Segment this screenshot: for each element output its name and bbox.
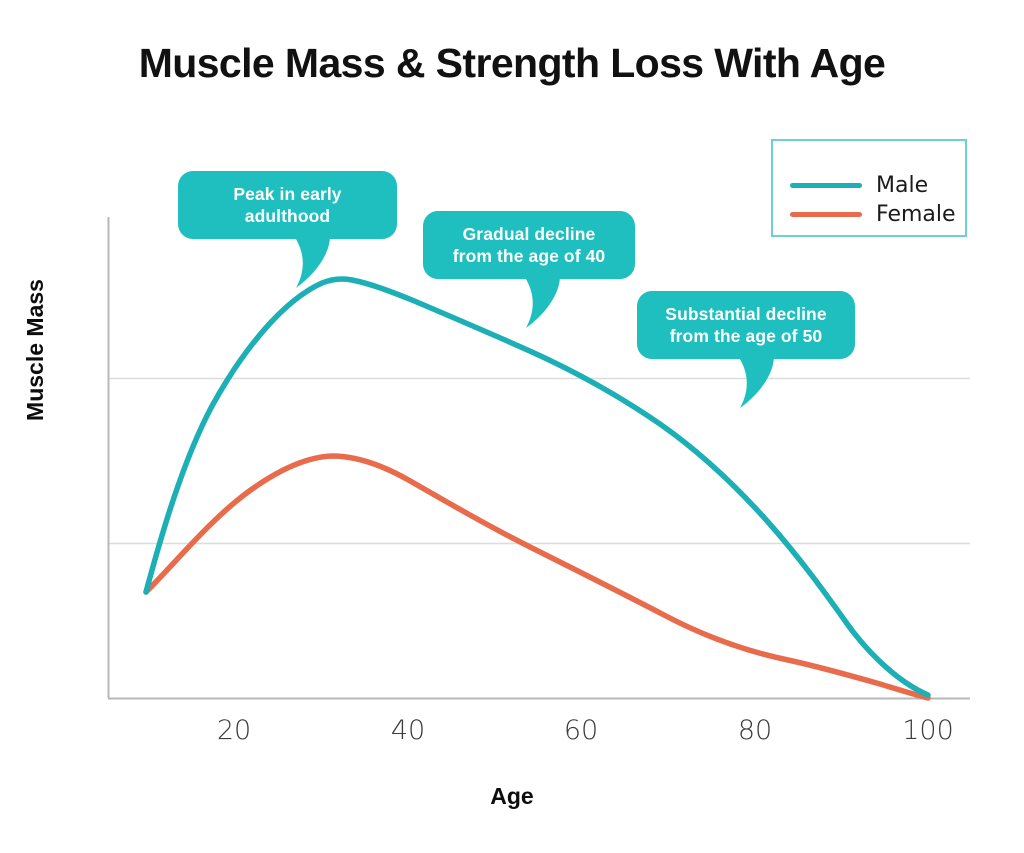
plot-area — [0, 0, 1024, 853]
x-axis-title: Age — [0, 783, 1024, 810]
callout-tail-3 — [738, 356, 774, 408]
legend-swatch-female — [790, 212, 862, 217]
chart-figure: Muscle Mass & Strength Loss With Age Mus… — [0, 0, 1024, 853]
callout-peak-early-adulthood: Peak in early adulthood — [178, 171, 397, 239]
x-tick-label-20: 20 — [194, 715, 274, 746]
legend-item-male[interactable]: Male — [773, 170, 969, 200]
callout-tail-2 — [524, 276, 560, 328]
x-tick-label-100: 100 — [888, 715, 968, 746]
x-tick-label-60: 60 — [541, 715, 621, 746]
callout-substantial-decline: Substantial decline from the age of 50 — [637, 291, 855, 359]
legend-swatch-male — [790, 183, 862, 188]
legend-label-male: Male — [876, 173, 928, 198]
x-tick-label-40: 40 — [368, 715, 448, 746]
x-tick-label-80: 80 — [715, 715, 795, 746]
legend-item-female[interactable]: Female — [773, 199, 969, 229]
y-axis-title: Muscle Mass — [22, 250, 49, 450]
callout-gradual-decline: Gradual decline from the age of 40 — [423, 211, 635, 279]
legend-label-female: Female — [876, 202, 956, 227]
legend: Male Female — [771, 139, 967, 237]
